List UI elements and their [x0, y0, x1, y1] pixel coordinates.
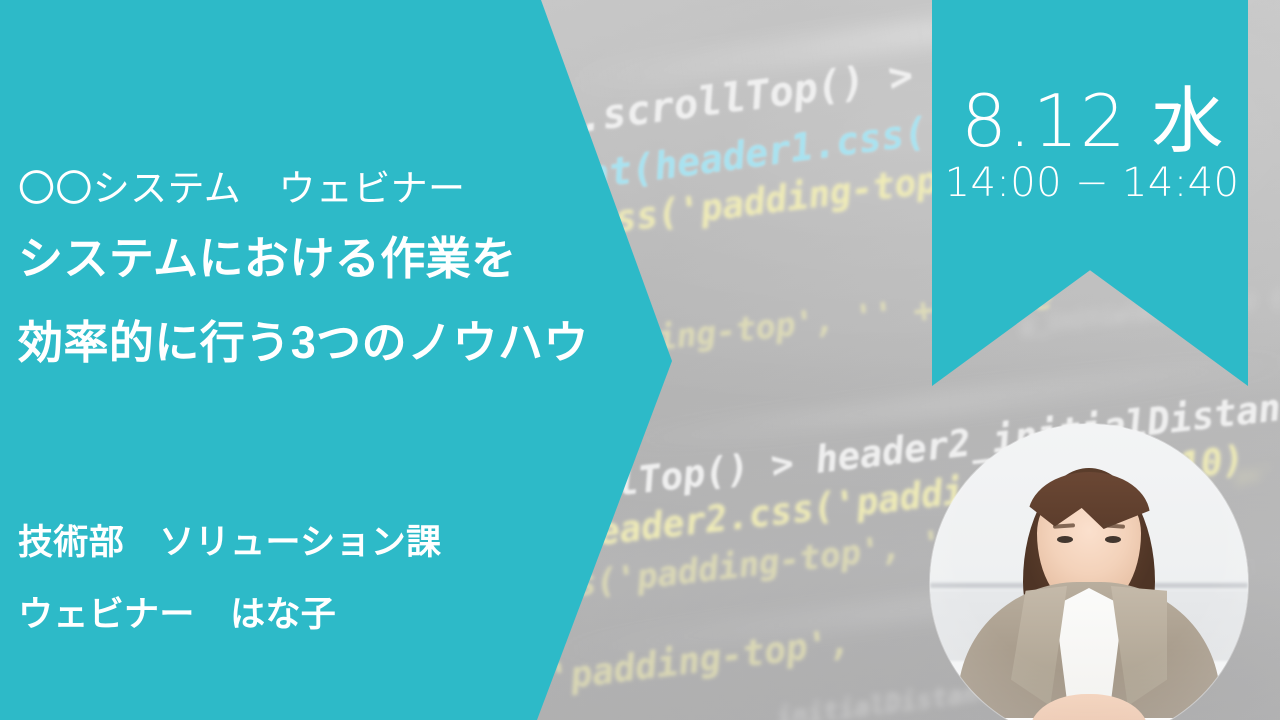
- event-time: 14:00 − 14:40: [942, 160, 1242, 206]
- webinar-title-slide: ).scrollTop() > header1_i nt(header1.css…: [0, 0, 1280, 720]
- presenter-department: 技術部 ソリューション課: [18, 514, 442, 565]
- event-date: 8.12 水: [948, 62, 1238, 167]
- presenter-name: ウェビナー はな子: [18, 586, 336, 637]
- slide-subtitle: 〇〇システム ウェビナー: [18, 158, 465, 212]
- page-title-line-1: システムにおける作業を: [18, 222, 517, 287]
- presenter-photo: [930, 424, 1248, 720]
- photo-soft-edge: [930, 424, 1248, 720]
- page-title-line-2: 効率的に行う3つのノウハウ: [18, 306, 589, 371]
